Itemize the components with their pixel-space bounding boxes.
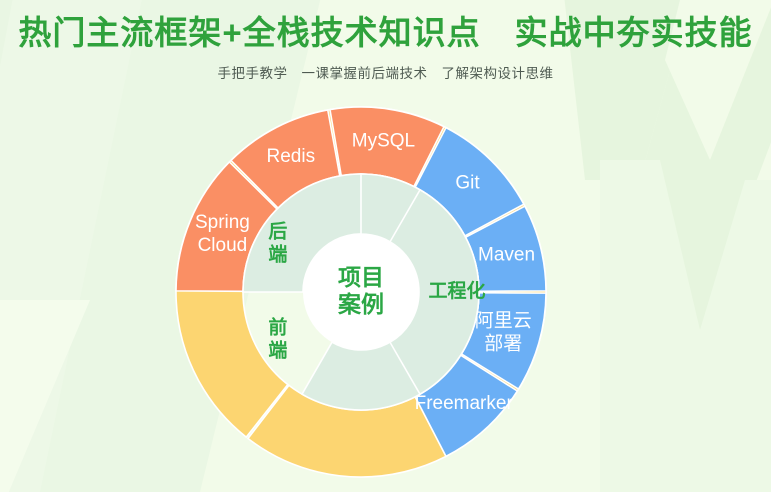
donut-inner-segment-label: 前端: [268, 316, 287, 362]
center-hub-group: 项目案例: [303, 234, 419, 350]
donut-outer-segment-label: MySQL: [352, 131, 415, 152]
donut-center-label: 项目案例: [337, 264, 384, 317]
donut-outer-segment-label: Freemarker: [415, 393, 514, 414]
donut-outer-segment-label: Git: [455, 173, 480, 194]
skills-donut-chart: VueBootstrapSpringCloudRedisMySQLGitMave…: [0, 0, 771, 492]
poster-canvas: 热门主流框架+全栈技术知识点 实战中夯实技能 手把手教学 一课掌握前后端技术 了…: [0, 0, 771, 492]
donut-outer-segment-label: Maven: [478, 245, 535, 266]
donut-inner-segment-label: 工程化: [428, 279, 485, 302]
donut-outer-segment-label: Redis: [267, 146, 316, 167]
